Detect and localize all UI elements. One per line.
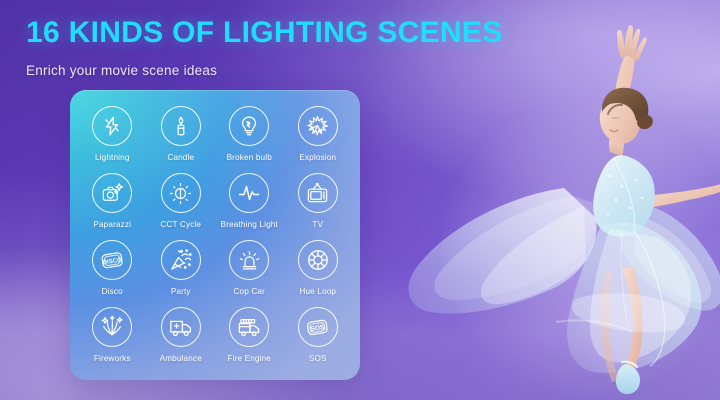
siren-light-icon xyxy=(229,240,269,280)
camera-flash-icon xyxy=(92,173,132,213)
scene-label: Paparazzi xyxy=(93,220,131,229)
scene-item-fireworks[interactable]: Fireworks xyxy=(78,303,147,370)
scene-item-hue-loop[interactable]: Hue Loop xyxy=(284,236,353,303)
broken-bulb-icon xyxy=(229,106,269,146)
scene-label: Ambulance xyxy=(160,354,202,363)
scene-item-lightning[interactable]: Lightning xyxy=(78,102,147,169)
scene-item-paparazzi[interactable]: Paparazzi xyxy=(78,169,147,236)
scene-label: Hue Loop xyxy=(299,287,336,296)
sun-half-icon xyxy=(161,173,201,213)
scene-label: Disco xyxy=(102,287,123,296)
scene-label: Party xyxy=(171,287,191,296)
scene-label: Fire Engine xyxy=(227,354,271,363)
header: 16 KINDS OF LIGHTING SCENES Enrich your … xyxy=(26,18,503,78)
color-wheel-icon xyxy=(298,240,338,280)
svg-text:SOS: SOS xyxy=(310,323,326,332)
disco-sign-icon: DISCO xyxy=(92,240,132,280)
lighting-scenes-card: Lightning Candle xyxy=(70,90,360,380)
lightning-bolt-icon xyxy=(92,106,132,146)
scene-item-fire-engine[interactable]: Fire Engine xyxy=(215,303,284,370)
television-icon xyxy=(298,173,338,213)
scene-item-party[interactable]: Party xyxy=(147,236,216,303)
heartbeat-wave-icon xyxy=(229,173,269,213)
scene-item-candle[interactable]: Candle xyxy=(147,102,216,169)
scene-item-tv[interactable]: TV xyxy=(284,169,353,236)
scene-item-cct-cycle[interactable]: CCT Cycle xyxy=(147,169,216,236)
scene-label: SOS xyxy=(309,354,327,363)
fireworks-burst-icon xyxy=(92,307,132,347)
page-subtitle: Enrich your movie scene ideas xyxy=(26,63,503,78)
party-popper-icon xyxy=(161,240,201,280)
scene-label: Candle xyxy=(167,153,194,162)
scene-label: Broken bulb xyxy=(227,153,272,162)
sos-sign-icon: SOS xyxy=(298,307,338,347)
scene-item-ambulance[interactable]: Ambulance xyxy=(147,303,216,370)
scene-item-broken-bulb[interactable]: Broken bulb xyxy=(215,102,284,169)
ambulance-icon xyxy=(161,307,201,347)
scene-label: Lightning xyxy=(95,153,130,162)
scene-item-cop-car[interactable]: Cop Car xyxy=(215,236,284,303)
scenes-grid: Lightning Candle xyxy=(70,90,360,380)
page-title: 16 KINDS OF LIGHTING SCENES xyxy=(26,18,503,48)
scene-label: Cop Car xyxy=(233,287,265,296)
scene-item-sos[interactable]: SOS SOS xyxy=(284,303,353,370)
scene-label: Explosion xyxy=(299,153,336,162)
fire-engine-icon xyxy=(229,307,269,347)
scene-label: CCT Cycle xyxy=(160,220,201,229)
scene-label: TV xyxy=(312,220,323,229)
scene-item-disco[interactable]: DISCO Disco xyxy=(78,236,147,303)
explosion-icon xyxy=(298,106,338,146)
scene-label: Fireworks xyxy=(94,354,131,363)
candle-icon xyxy=(161,106,201,146)
scene-item-explosion[interactable]: Explosion xyxy=(284,102,353,169)
scene-label: Breathing Light xyxy=(221,220,278,229)
scene-item-breathing-light[interactable]: Breathing Light xyxy=(215,169,284,236)
